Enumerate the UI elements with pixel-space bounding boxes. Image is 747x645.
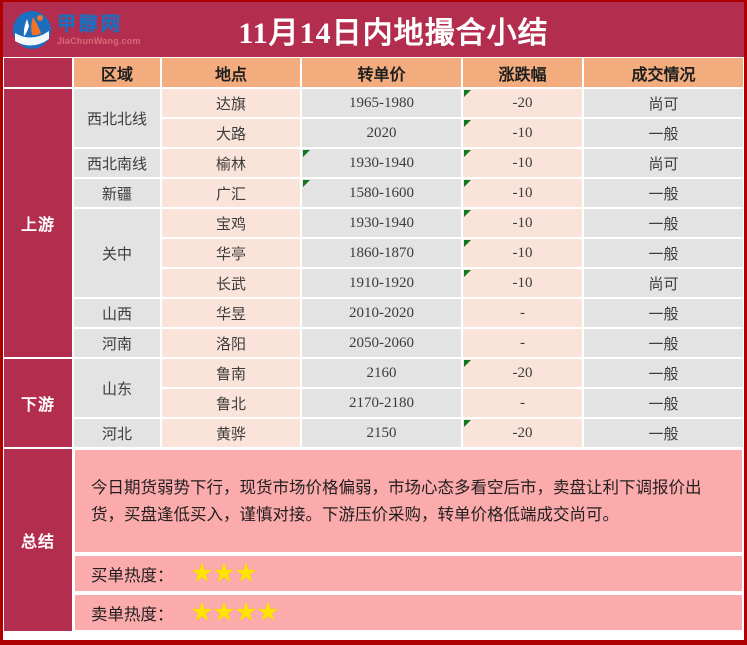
section-body: 西北北线达旗1965-1980-20尚可大路2020-10一般西北南线榆林193… bbox=[73, 88, 744, 358]
cell-price: 2150 bbox=[301, 418, 462, 448]
cell-change: - bbox=[462, 388, 583, 418]
cell-price: 1965-1980 bbox=[301, 88, 462, 118]
cell-change: -20 bbox=[462, 418, 583, 448]
cell-deal: 一般 bbox=[583, 418, 744, 448]
heat-label-sell: 卖单热度： bbox=[91, 601, 174, 625]
region-block: 新疆广汇1580-1600-10一般 bbox=[73, 178, 744, 208]
cell-change: - bbox=[462, 298, 583, 328]
cell-deal: 一般 bbox=[583, 358, 744, 388]
cell-change: -20 bbox=[462, 358, 583, 388]
cell-change: -20 bbox=[462, 88, 583, 118]
header-corner-cell bbox=[3, 57, 73, 88]
table-row: 广汇1580-1600-10一般 bbox=[161, 178, 744, 208]
column-header-4: 涨跌幅 bbox=[462, 57, 583, 88]
region-rows: 黄骅2150-20一般 bbox=[161, 418, 744, 448]
cell-price: 1930-1940 bbox=[301, 148, 462, 178]
cell-place: 华亭 bbox=[161, 238, 301, 268]
cell-place: 榆林 bbox=[161, 148, 301, 178]
table-row: 华昱2010-2020-一般 bbox=[161, 298, 744, 328]
column-header-2: 地点 bbox=[161, 57, 301, 88]
table-row: 大路2020-10一般 bbox=[161, 118, 744, 148]
cell-deal: 一般 bbox=[583, 328, 744, 358]
table-section-下游: 下游山东鲁南2160-20一般鲁北2170-2180-一般河北黄骅2150-20… bbox=[3, 358, 744, 448]
region-name-cell: 河南 bbox=[73, 328, 161, 358]
cell-change: -10 bbox=[462, 268, 583, 298]
region-name-cell: 山东 bbox=[73, 358, 161, 418]
summary-text: 今日期货弱势下行，现货市场价格偏弱，市场心态多看空后市，卖盘让利下调报价出货，买… bbox=[73, 448, 744, 554]
region-rows: 洛阳2050-2060-一般 bbox=[161, 328, 744, 358]
region-name-cell: 新疆 bbox=[73, 178, 161, 208]
region-block: 西北北线达旗1965-1980-20尚可大路2020-10一般 bbox=[73, 88, 744, 148]
cell-place: 鲁北 bbox=[161, 388, 301, 418]
cell-price: 1860-1870 bbox=[301, 238, 462, 268]
summary-label: 总结 bbox=[3, 448, 73, 632]
cell-change: -10 bbox=[462, 118, 583, 148]
cell-place: 宝鸡 bbox=[161, 208, 301, 238]
table-row: 长武1910-1920-10尚可 bbox=[161, 268, 744, 298]
region-block: 河南洛阳2050-2060-一般 bbox=[73, 328, 744, 358]
cell-place: 洛阳 bbox=[161, 328, 301, 358]
region-block: 山西华昱2010-2020-一般 bbox=[73, 298, 744, 328]
region-rows: 鲁南2160-20一般鲁北2170-2180-一般 bbox=[161, 358, 744, 418]
region-name-cell: 西北北线 bbox=[73, 88, 161, 148]
cell-place: 大路 bbox=[161, 118, 301, 148]
heat-row-buy: 买单热度：★★★ bbox=[73, 554, 744, 593]
region-rows: 华昱2010-2020-一般 bbox=[161, 298, 744, 328]
cell-price: 2020 bbox=[301, 118, 462, 148]
cell-place: 鲁南 bbox=[161, 358, 301, 388]
logo-text-en: JiaChunWang.com bbox=[57, 37, 141, 46]
logo-circle-icon bbox=[11, 9, 53, 51]
cell-deal: 尚可 bbox=[583, 268, 744, 298]
cell-price: 2160 bbox=[301, 358, 462, 388]
cell-deal: 尚可 bbox=[583, 148, 744, 178]
table-row: 鲁北2170-2180-一般 bbox=[161, 388, 744, 418]
region-rows: 榆林1930-1940-10尚可 bbox=[161, 148, 744, 178]
cell-deal: 一般 bbox=[583, 178, 744, 208]
section-label-下游: 下游 bbox=[3, 358, 73, 448]
cell-price: 2050-2060 bbox=[301, 328, 462, 358]
table-row: 洛阳2050-2060-一般 bbox=[161, 328, 744, 358]
cell-place: 黄骅 bbox=[161, 418, 301, 448]
section-label-上游: 上游 bbox=[3, 88, 73, 358]
cell-deal: 一般 bbox=[583, 208, 744, 238]
cell-deal: 一般 bbox=[583, 298, 744, 328]
table-header-row: 区域地点转单价涨跌幅成交情况 bbox=[3, 57, 744, 88]
region-name-cell: 山西 bbox=[73, 298, 161, 328]
section-body: 山东鲁南2160-20一般鲁北2170-2180-一般河北黄骅2150-20一般 bbox=[73, 358, 744, 448]
cell-price: 2170-2180 bbox=[301, 388, 462, 418]
site-logo[interactable]: 甲醇网 JiaChunWang.com bbox=[11, 8, 161, 52]
column-header-3: 转单价 bbox=[301, 57, 462, 88]
table-row: 黄骅2150-20一般 bbox=[161, 418, 744, 448]
region-block: 山东鲁南2160-20一般鲁北2170-2180-一般 bbox=[73, 358, 744, 418]
heat-label-buy: 买单热度： bbox=[91, 562, 174, 586]
table-section-上游: 上游西北北线达旗1965-1980-20尚可大路2020-10一般西北南线榆林1… bbox=[3, 88, 744, 358]
cell-change: -10 bbox=[462, 208, 583, 238]
region-block: 西北南线榆林1930-1940-10尚可 bbox=[73, 148, 744, 178]
cell-price: 2010-2020 bbox=[301, 298, 462, 328]
cell-price: 1910-1920 bbox=[301, 268, 462, 298]
region-rows: 广汇1580-1600-10一般 bbox=[161, 178, 744, 208]
cell-change: -10 bbox=[462, 238, 583, 268]
table-row: 榆林1930-1940-10尚可 bbox=[161, 148, 744, 178]
cell-deal: 一般 bbox=[583, 118, 744, 148]
region-rows: 达旗1965-1980-20尚可大路2020-10一般 bbox=[161, 88, 744, 148]
heat-stars-sell: ★★★★ bbox=[192, 602, 280, 623]
region-name-cell: 河北 bbox=[73, 418, 161, 448]
summary-section: 总结今日期货弱势下行，现货市场价格偏弱，市场心态多看空后市，卖盘让利下调报价出货… bbox=[3, 448, 744, 632]
region-block: 河北黄骅2150-20一般 bbox=[73, 418, 744, 448]
cell-deal: 一般 bbox=[583, 238, 744, 268]
summary-table: 区域地点转单价涨跌幅成交情况上游西北北线达旗1965-1980-20尚可大路20… bbox=[3, 57, 744, 632]
region-block: 关中宝鸡1930-1940-10一般华亭1860-1870-10一般长武1910… bbox=[73, 208, 744, 298]
region-name-cell: 西北南线 bbox=[73, 148, 161, 178]
cell-change: -10 bbox=[462, 148, 583, 178]
region-rows: 宝鸡1930-1940-10一般华亭1860-1870-10一般长武1910-1… bbox=[161, 208, 744, 298]
region-name-cell: 关中 bbox=[73, 208, 161, 298]
table-row: 华亭1860-1870-10一般 bbox=[161, 238, 744, 268]
summary-body: 今日期货弱势下行，现货市场价格偏弱，市场心态多看空后市，卖盘让利下调报价出货，买… bbox=[73, 448, 744, 632]
heat-row-sell: 卖单热度：★★★★ bbox=[73, 593, 744, 632]
cell-change: - bbox=[462, 328, 583, 358]
cell-place: 长武 bbox=[161, 268, 301, 298]
column-header-5: 成交情况 bbox=[583, 57, 744, 88]
cell-change: -10 bbox=[462, 178, 583, 208]
logo-text-cn: 甲醇网 bbox=[57, 15, 141, 34]
heat-stars-buy: ★★★ bbox=[192, 563, 258, 584]
column-header-1: 区域 bbox=[73, 57, 161, 88]
table-row: 宝鸡1930-1940-10一般 bbox=[161, 208, 744, 238]
cell-price: 1580-1600 bbox=[301, 178, 462, 208]
report-page: 甲醇网 JiaChunWang.com 11月14日内地撮合小结 区域地点转单价… bbox=[0, 0, 747, 645]
cell-place: 广汇 bbox=[161, 178, 301, 208]
cell-deal: 尚可 bbox=[583, 88, 744, 118]
table-row: 达旗1965-1980-20尚可 bbox=[161, 88, 744, 118]
table-row: 鲁南2160-20一般 bbox=[161, 358, 744, 388]
cell-place: 华昱 bbox=[161, 298, 301, 328]
title-bar: 甲醇网 JiaChunWang.com 11月14日内地撮合小结 bbox=[3, 2, 744, 57]
cell-deal: 一般 bbox=[583, 388, 744, 418]
cell-place: 达旗 bbox=[161, 88, 301, 118]
cell-price: 1930-1940 bbox=[301, 208, 462, 238]
